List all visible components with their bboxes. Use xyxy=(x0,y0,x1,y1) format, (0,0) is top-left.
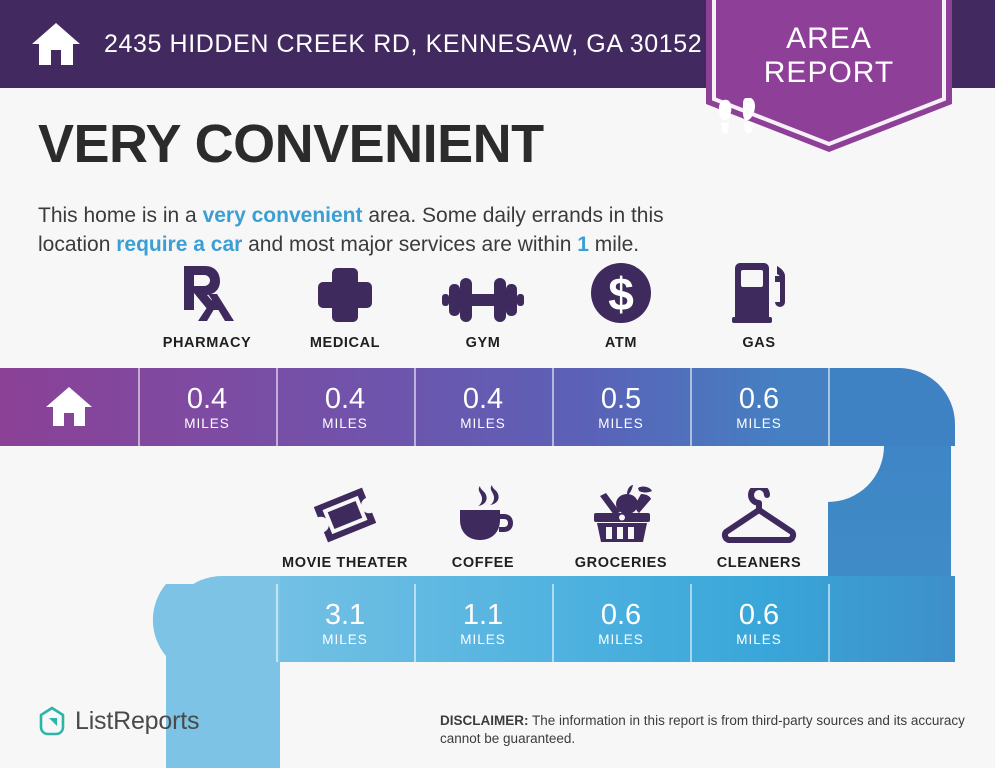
description-text: This home is in a very convenient area. … xyxy=(38,201,718,259)
distance-value: 0.4 xyxy=(463,383,503,415)
amenity-icon-row-primary: PHARMACY MEDICAL xyxy=(138,262,828,351)
distance-unit: MILES xyxy=(598,416,644,431)
desc-highlight-2: require a car xyxy=(116,233,242,256)
desc-part-1: This home is in a xyxy=(38,204,203,227)
desc-highlight-1: very convenient xyxy=(203,204,363,227)
distance-value: 0.6 xyxy=(601,599,641,631)
distance-unit: MILES xyxy=(322,632,368,647)
desc-part-3: and most major services are within xyxy=(242,233,577,256)
ribbon-separator xyxy=(828,584,830,662)
distance-cell: 0.4 MILES xyxy=(138,368,276,446)
badge-title-line2: REPORT xyxy=(706,56,952,90)
amenity-gym: GYM xyxy=(414,262,552,351)
listreports-logo-text: ListReports xyxy=(75,707,199,736)
amenity-label: CLEANERS xyxy=(717,555,802,571)
amenity-label: COFFEE xyxy=(452,555,514,571)
distance-unit: MILES xyxy=(736,416,782,431)
area-report-page: 2435 HIDDEN CREEK RD, KENNESAW, GA 30152… xyxy=(0,0,995,768)
clothes-hanger-icon xyxy=(718,482,800,544)
distance-value: 3.1 xyxy=(325,599,365,631)
amenity-label: GROCERIES xyxy=(575,555,667,571)
medical-cross-icon xyxy=(316,262,374,324)
distance-cell: 0.6 MILES xyxy=(690,368,828,446)
distance-value: 0.5 xyxy=(601,383,641,415)
distance-cell: 0.6 MILES xyxy=(552,584,690,662)
footprints-icon xyxy=(706,98,952,140)
distance-row-primary: 0.4 MILES 0.4 MILES 0.4 MILES 0.5 MILES … xyxy=(138,368,828,446)
distance-cell: 0.6 MILES xyxy=(690,584,828,662)
amenity-label: MEDICAL xyxy=(310,335,380,351)
amenity-label: GYM xyxy=(466,335,501,351)
badge-title: AREA REPORT xyxy=(706,22,952,90)
distance-unit: MILES xyxy=(322,416,368,431)
distance-unit: MILES xyxy=(184,416,230,431)
distance-value: 0.4 xyxy=(187,383,227,415)
desc-part-4: mile. xyxy=(589,233,639,256)
home-icon xyxy=(44,385,94,429)
amenity-atm: $ ATM xyxy=(552,262,690,351)
coffee-cup-icon xyxy=(452,482,514,544)
amenity-medical: MEDICAL xyxy=(276,262,414,351)
amenity-gas: GAS xyxy=(690,262,828,351)
distance-cell: 0.4 MILES xyxy=(276,368,414,446)
distance-value: 1.1 xyxy=(463,599,503,631)
amenity-movie-theater: MOVIE THEATER xyxy=(276,482,414,571)
listreports-logo-icon xyxy=(38,706,66,736)
dumbbell-icon xyxy=(442,262,524,324)
amenity-label: ATM xyxy=(605,335,637,351)
distance-value: 0.6 xyxy=(739,383,779,415)
distance-unit: MILES xyxy=(460,416,506,431)
amenity-icon-row-secondary: MOVIE THEATER COFFEE xyxy=(276,482,828,571)
disclaimer: DISCLAIMER: The information in this repo… xyxy=(440,712,970,748)
area-report-badge: AREA REPORT xyxy=(706,0,952,152)
prescription-rx-icon xyxy=(178,262,236,324)
distance-unit: MILES xyxy=(736,632,782,647)
dollar-coin-icon: $ xyxy=(590,262,652,324)
amenity-label: GAS xyxy=(742,335,775,351)
distance-cell: 3.1 MILES xyxy=(276,584,414,662)
disclaimer-label: DISCLAIMER: xyxy=(440,713,529,728)
gas-pump-icon xyxy=(731,262,787,324)
distance-row-secondary: 3.1 MILES 1.1 MILES 0.6 MILES 0.6 MILES xyxy=(276,584,828,662)
movie-ticket-icon xyxy=(313,482,377,544)
home-icon xyxy=(30,20,82,68)
amenity-label: PHARMACY xyxy=(163,335,252,351)
amenity-groceries: GROCERIES xyxy=(552,482,690,571)
distance-value: 0.6 xyxy=(739,599,779,631)
property-address: 2435 HIDDEN CREEK RD, KENNESAW, GA 30152 xyxy=(104,30,702,59)
listreports-logo[interactable]: ListReports xyxy=(38,706,199,736)
amenity-pharmacy: PHARMACY xyxy=(138,262,276,351)
ribbon-separator xyxy=(828,368,830,446)
desc-highlight-3: 1 xyxy=(577,233,589,256)
amenity-cleaners: CLEANERS xyxy=(690,482,828,571)
distance-cell: 1.1 MILES xyxy=(414,584,552,662)
home-position-marker xyxy=(0,368,138,446)
distance-cell: 0.5 MILES xyxy=(552,368,690,446)
distance-cell: 0.4 MILES xyxy=(414,368,552,446)
page-title: VERY CONVENIENT xyxy=(38,112,544,176)
badge-title-line1: AREA xyxy=(706,22,952,56)
distance-unit: MILES xyxy=(460,632,506,647)
distance-unit: MILES xyxy=(598,632,644,647)
svg-text:$: $ xyxy=(608,268,634,320)
amenity-label: MOVIE THEATER xyxy=(282,555,408,571)
amenity-coffee: COFFEE xyxy=(414,482,552,571)
distance-value: 0.4 xyxy=(325,383,365,415)
grocery-basket-icon xyxy=(586,482,656,544)
